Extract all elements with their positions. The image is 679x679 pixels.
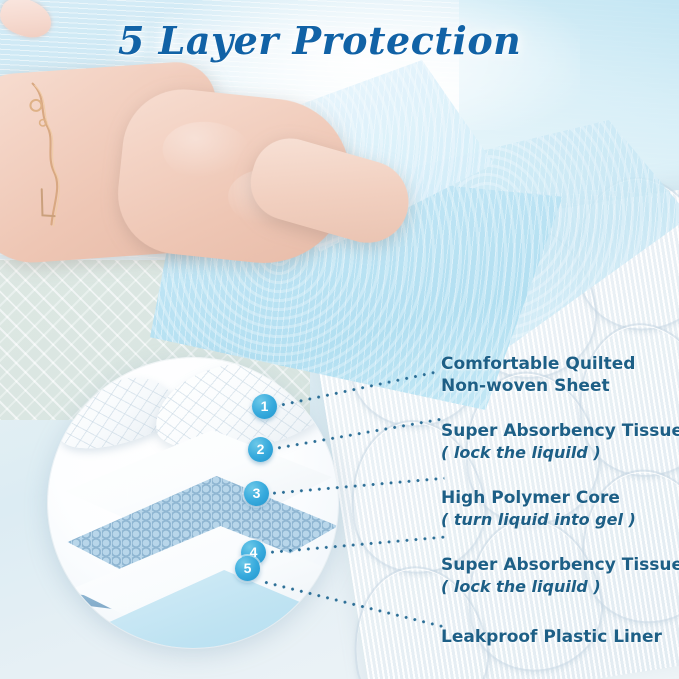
layer-label-1-line2: Non-woven Sheet <box>441 375 635 397</box>
layer-label-3: High Polymer Core ( turn liquid into gel… <box>441 487 636 531</box>
layer-label-1: Comfortable Quilted Non-woven Sheet <box>441 353 635 397</box>
layer-badge-1[interactable]: 1 <box>252 394 277 419</box>
layer-label-5-line1: Leakproof Plastic Liner <box>441 626 662 648</box>
layer-label-5: Leakproof Plastic Liner <box>441 626 662 648</box>
layer-label-2-note: ( lock the liquild ) <box>441 442 679 464</box>
layer-label-2: Super Absorbency Tissue ( lock the liqui… <box>441 420 679 464</box>
layer-label-3-line1: High Polymer Core <box>441 487 636 509</box>
layer-label-1-line1: Comfortable Quilted <box>441 353 635 375</box>
infographic-canvas: 1 2 3 4 5 5 Layer Protection Comfortable… <box>0 0 679 679</box>
layer-label-4-line1: Super Absorbency Tissue <box>441 554 679 576</box>
layer-badge-2[interactable]: 2 <box>248 437 273 462</box>
layer-badge-5[interactable]: 5 <box>235 556 260 581</box>
layer-label-3-note: ( turn liquid into gel ) <box>441 509 636 531</box>
layer-label-4-note: ( lock the liquild ) <box>441 576 679 598</box>
layer-badge-3[interactable]: 3 <box>244 481 269 506</box>
layer-label-2-line1: Super Absorbency Tissue <box>441 420 679 442</box>
page-title: 5 Layer Protection <box>118 18 521 63</box>
layer-label-4: Super Absorbency Tissue ( lock the liqui… <box>441 554 679 598</box>
